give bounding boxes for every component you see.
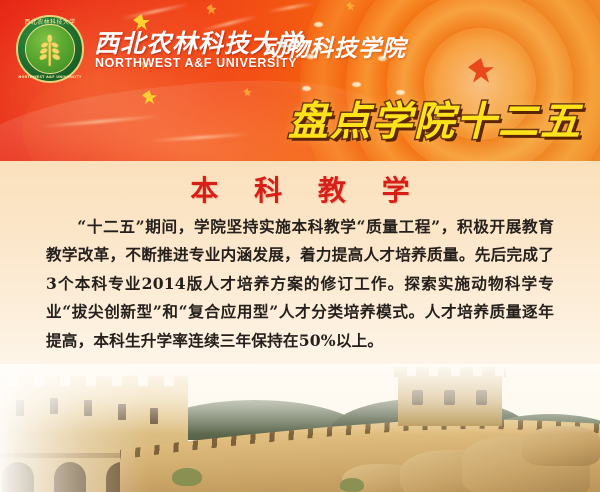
college-name-chinese: 动物科技学院: [262, 29, 406, 63]
fortress-window: [16, 400, 24, 416]
fortress-window: [84, 400, 92, 416]
fortress-battlement: [0, 376, 188, 388]
shrub-foliage: [172, 468, 202, 486]
watchtower: [398, 376, 502, 426]
fortress-window: [50, 398, 58, 414]
shrub-foliage: [340, 478, 364, 492]
great-wall-photo: [0, 364, 600, 492]
rock-formation: [522, 426, 600, 466]
logo-arc-bottom-text: NORTHWEST A&F UNIVERSITY: [16, 76, 84, 79]
watchtower-window: [444, 390, 455, 405]
logo-arc-top-text: 西北农林科技大学: [16, 20, 84, 26]
poster-root: 西北农林科技大学 NORTHWEST A&F UNIVERSITY 西北农林科技…: [0, 0, 600, 492]
poster-content: 本 科 教 学 “十二五”期间，学院坚持实施本科教学“质量工程”，积极开展教育教…: [0, 161, 600, 492]
section-title: 本 科 教 学: [0, 169, 600, 209]
body-paragraph: “十二五”期间，学院坚持实施本科教学“质量工程”，积极开展教育教学改革，不断推进…: [46, 213, 554, 355]
wheat-icon: [33, 32, 67, 68]
poster-header: 西北农林科技大学 NORTHWEST A&F UNIVERSITY 西北农林科技…: [0, 0, 600, 161]
banner-title: 盘点学院十二五: [288, 89, 582, 147]
university-logo: 西北农林科技大学 NORTHWEST A&F UNIVERSITY: [16, 15, 84, 83]
fortress-arch: [2, 462, 34, 492]
watchtower-window: [412, 390, 423, 405]
watchtower-window: [476, 390, 487, 405]
fortress-arch: [54, 462, 86, 492]
watchtower-battlement: [394, 367, 506, 377]
